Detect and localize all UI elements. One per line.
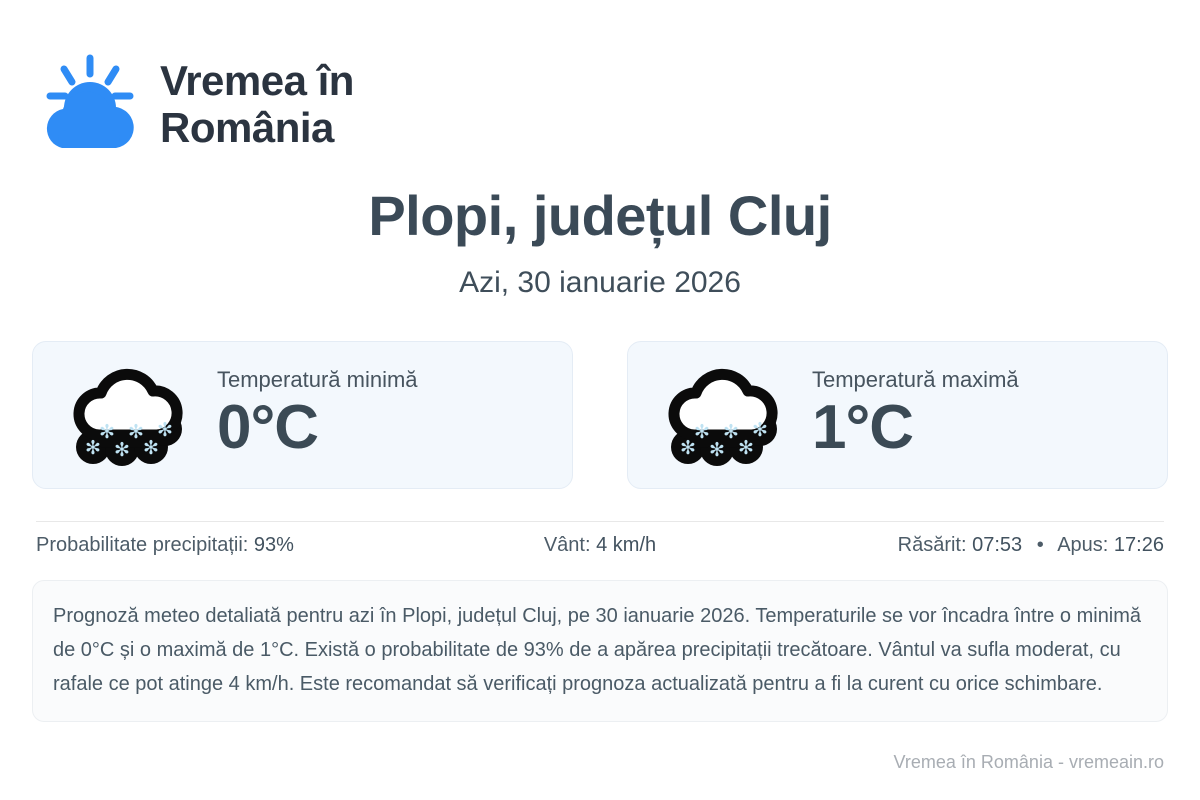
precipitation-value: 93% xyxy=(254,534,294,556)
sun-separator: • xyxy=(1037,534,1044,557)
stats-divider xyxy=(36,521,1164,522)
sunrise-label: Răsărit: xyxy=(898,534,967,556)
svg-text:✻: ✻ xyxy=(157,419,173,441)
weather-page: Vremea în România Plopi, județul Cluj Az… xyxy=(0,0,1200,800)
temperature-cards: ✻ ✻ ✻ ✻ ✻ ✻ Temperatură minimă 0°C xyxy=(32,341,1168,489)
footer-credit: Vremea în România - vremeain.ro xyxy=(894,752,1164,773)
sun-behind-cloud-icon xyxy=(36,52,144,156)
card-body: Temperatură maximă 1°C xyxy=(812,368,1019,461)
card-temperature-max: ✻ ✻ ✻ ✻ ✻ ✻ Temperatură maximă 1°C xyxy=(627,341,1168,489)
sunrise-value: 07:53 xyxy=(972,534,1022,556)
snow-cloud-icon: ✻ ✻ ✻ ✻ ✻ ✻ xyxy=(67,361,191,469)
svg-text:✻: ✻ xyxy=(680,437,696,459)
card-label: Temperatură minimă xyxy=(217,368,418,392)
sunset-label: Apus: xyxy=(1057,534,1108,556)
precipitation-label: Probabilitate precipitații: xyxy=(36,534,248,556)
page-title: Plopi, județul Cluj xyxy=(0,183,1200,248)
card-body: Temperatură minimă 0°C xyxy=(217,368,418,461)
card-value: 1°C xyxy=(812,395,1019,462)
svg-text:✻: ✻ xyxy=(738,437,754,459)
stat-wind: Vânt: 4 km/h xyxy=(408,534,792,557)
svg-text:✻: ✻ xyxy=(709,439,725,461)
svg-text:✻: ✻ xyxy=(143,437,159,459)
forecast-description: Prognoză meteo detaliată pentru azi în P… xyxy=(32,580,1168,722)
brand-name: Vremea în România xyxy=(160,57,354,151)
brand-logo[interactable]: Vremea în România xyxy=(36,52,354,156)
card-temperature-min: ✻ ✻ ✻ ✻ ✻ ✻ Temperatură minimă 0°C xyxy=(32,341,573,489)
sunset-value: 17:26 xyxy=(1114,534,1164,556)
card-label: Temperatură maximă xyxy=(812,368,1019,392)
stat-sun: Răsărit: 07:53 • Apus: 17:26 xyxy=(792,534,1164,557)
svg-text:✻: ✻ xyxy=(114,439,130,461)
snow-cloud-icon: ✻ ✻ ✻ ✻ ✻ ✻ xyxy=(662,361,786,469)
svg-text:✻: ✻ xyxy=(752,419,768,441)
svg-text:✻: ✻ xyxy=(694,421,710,443)
weather-stats: Probabilitate precipitații: 93% Vânt: 4 … xyxy=(36,534,1164,557)
stat-precipitation: Probabilitate precipitații: 93% xyxy=(36,534,408,557)
wind-label: Vânt: xyxy=(544,534,591,556)
page-subtitle: Azi, 30 ianuarie 2026 xyxy=(0,266,1200,300)
card-value: 0°C xyxy=(217,395,418,462)
wind-value: 4 km/h xyxy=(596,534,656,556)
svg-text:✻: ✻ xyxy=(99,421,115,443)
svg-text:✻: ✻ xyxy=(85,437,101,459)
svg-text:✻: ✻ xyxy=(723,421,739,443)
svg-text:✻: ✻ xyxy=(128,421,144,443)
